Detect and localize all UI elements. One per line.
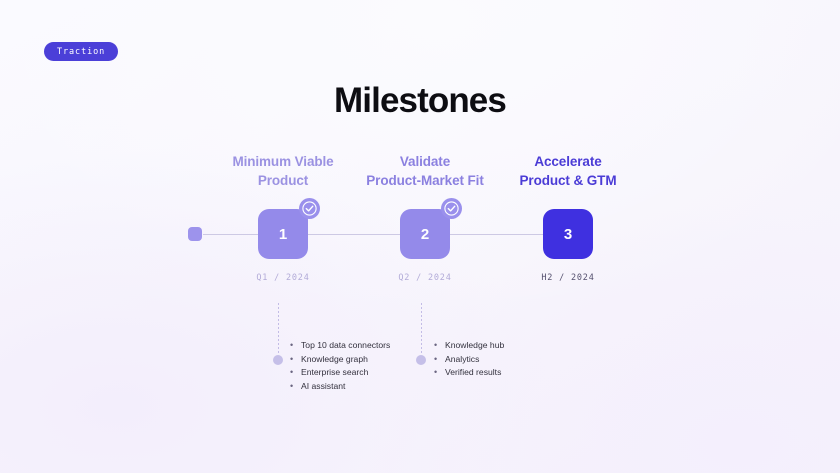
check-circle-icon (299, 198, 320, 219)
timeline-track-segment-1-2 (307, 234, 401, 235)
milestone-heading-1-line1: Minimum Viable (232, 154, 333, 169)
milestone-connector-dot-2 (416, 355, 426, 365)
bullet-icon: • (290, 381, 301, 391)
timeline-track-segment-2-3 (449, 234, 544, 235)
list-item-label: Analytics (445, 354, 479, 364)
list-item: •AI assistant (290, 381, 390, 391)
list-item: •Verified results (434, 367, 504, 377)
milestone-node-1[interactable]: 1 (258, 209, 308, 259)
list-item-label: Enterprise search (301, 367, 368, 377)
list-item: •Knowledge graph (290, 354, 390, 364)
milestone-node-1-number: 1 (279, 226, 287, 243)
milestone-timeline: Minimum Viable Product Validate Product-… (0, 0, 840, 473)
bullet-icon: • (290, 340, 301, 350)
milestone-heading-2-line2: Product-Market Fit (366, 173, 483, 188)
bullet-icon: • (290, 367, 301, 377)
check-circle-icon (441, 198, 462, 219)
milestone-node-2[interactable]: 2 (400, 209, 450, 259)
timeline-start-marker (188, 227, 202, 241)
milestone-date-3: H2 / 2024 (468, 273, 668, 283)
milestone-feature-list-2: •Knowledge hub•Analytics•Verified result… (434, 340, 504, 381)
list-item-label: Knowledge graph (301, 354, 368, 364)
list-item-label: Knowledge hub (445, 340, 504, 350)
milestone-node-3[interactable]: 3 (543, 209, 593, 259)
milestone-heading-2-line1: Validate (400, 154, 450, 169)
milestone-heading-3: Accelerate Product & GTM (468, 152, 668, 190)
list-item: •Enterprise search (290, 367, 390, 377)
milestone-heading-3-line2: Product & GTM (520, 173, 617, 188)
bullet-icon: • (434, 367, 445, 377)
list-item-label: AI assistant (301, 381, 345, 391)
list-item-label: Top 10 data connectors (301, 340, 390, 350)
milestone-connector-dot-1 (273, 355, 283, 365)
milestone-feature-list-1: •Top 10 data connectors•Knowledge graph•… (290, 340, 390, 394)
milestone-heading-3-line1: Accelerate (534, 154, 601, 169)
list-item: •Analytics (434, 354, 504, 364)
milestone-connector-1 (278, 303, 279, 355)
list-item-label: Verified results (445, 367, 501, 377)
milestone-node-2-number: 2 (421, 226, 429, 243)
timeline-track-segment-start (203, 234, 259, 235)
milestone-connector-2 (421, 303, 422, 355)
bullet-icon: • (434, 354, 445, 364)
list-item: •Knowledge hub (434, 340, 504, 350)
list-item: •Top 10 data connectors (290, 340, 390, 350)
milestone-node-3-number: 3 (564, 226, 572, 243)
bullet-icon: • (434, 340, 445, 350)
bullet-icon: • (290, 354, 301, 364)
slide-canvas: Traction Milestones Minimum Viable Produ… (0, 0, 840, 473)
milestone-heading-1-line2: Product (258, 173, 308, 188)
